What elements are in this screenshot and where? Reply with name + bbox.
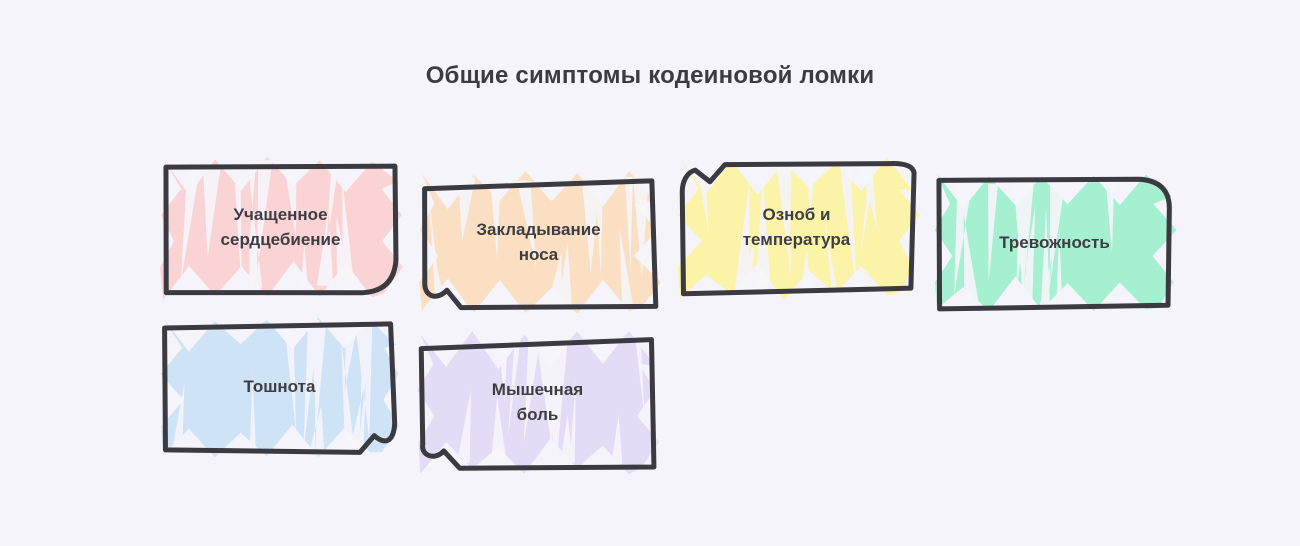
card-muscle-pain-shape bbox=[404, 322, 671, 484]
page-title: Общие симптомы кодеиновой ломки bbox=[0, 62, 1300, 90]
card-anxiety-shape bbox=[921, 162, 1188, 324]
card-chills-fever-shape bbox=[664, 147, 929, 309]
card-chills-fever[interactable]: Озноб и температура bbox=[680, 163, 913, 293]
card-rapid-heartbeat[interactable]: Учащенное сердцебиение bbox=[163, 163, 398, 293]
card-nausea-shape bbox=[147, 306, 412, 468]
card-nausea[interactable]: Тошнота bbox=[163, 322, 396, 452]
card-nasal-congestion-shape bbox=[406, 162, 671, 324]
card-anxiety[interactable]: Тревожность bbox=[937, 178, 1172, 308]
infographic-canvas: Общие симптомы кодеиновой ломки Учащенно… bbox=[0, 0, 1300, 546]
card-nasal-congestion[interactable]: Закладывание носа bbox=[422, 178, 655, 308]
card-muscle-pain[interactable]: Мышечная боль bbox=[420, 338, 655, 468]
card-rapid-heartbeat-shape bbox=[147, 147, 414, 309]
